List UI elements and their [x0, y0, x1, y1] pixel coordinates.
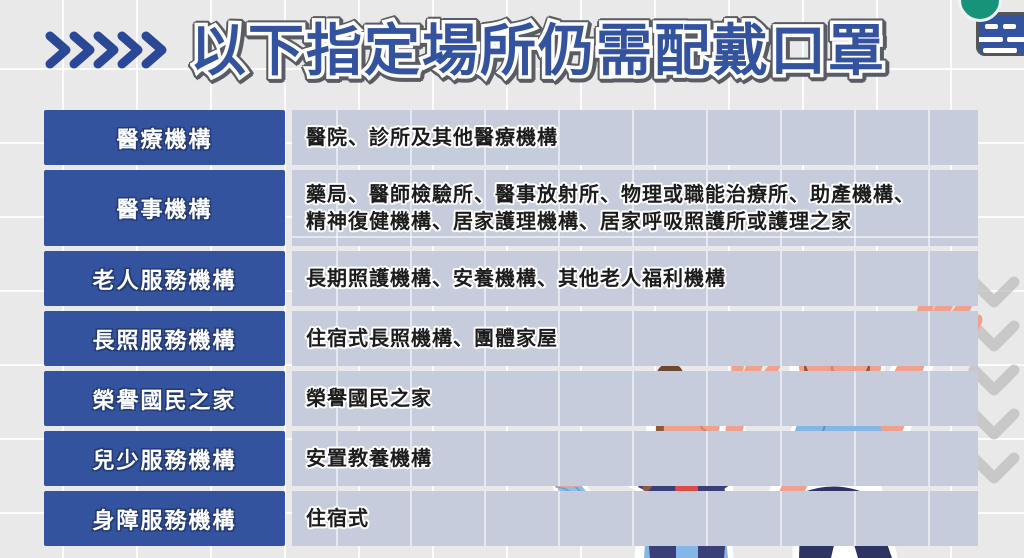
- table-row: 醫事機構 藥局、醫師檢驗所、醫事放射所、物理或職能治療所、助產機構、 精神復健機…: [44, 170, 978, 246]
- row-label-medical-affairs: 醫事機構: [44, 170, 285, 246]
- row-content-disability-service: 住宿式: [292, 491, 978, 546]
- table-row: 老人服務機構 長期照護機構、安養機構、其他老人福利機構: [44, 251, 978, 306]
- row-content-line: 藥局、醫師檢驗所、醫事放射所、物理或職能治療所、助產機構、: [306, 181, 978, 208]
- row-label-longterm-care: 長照服務機構: [44, 311, 285, 366]
- row-content-line: 醫院、診所及其他醫療機構: [306, 124, 978, 151]
- row-content-line: 住宿式: [306, 505, 978, 532]
- table-row: 榮譽國民之家 榮譽國民之家: [44, 371, 978, 426]
- header: 以下指定場所仍需配戴口罩: [0, 0, 1024, 100]
- row-label-medical-institution: 醫療機構: [44, 110, 285, 165]
- row-content-longterm-care: 住宿式長照機構、團體家屋: [292, 311, 978, 366]
- row-content-line: 榮譽國民之家: [306, 385, 978, 412]
- facility-table: 醫療機構 醫院、診所及其他醫療機構 醫事機構 藥局、醫師檢驗所、醫事放射所、物理…: [44, 110, 978, 551]
- row-content-medical-affairs: 藥局、醫師檢驗所、醫事放射所、物理或職能治療所、助產機構、 精神復健機構、居家護…: [292, 170, 978, 246]
- chevron-group-icon: [44, 28, 172, 72]
- row-content-line: 精神復健機構、居家護理機構、居家呼吸照護所或護理之家: [306, 208, 978, 235]
- table-row: 醫療機構 醫院、診所及其他醫療機構: [44, 110, 978, 165]
- row-content-medical-institution: 醫院、診所及其他醫療機構: [292, 110, 978, 165]
- row-label-children-service: 兒少服務機構: [44, 431, 285, 486]
- row-content-line: 安置教養機構: [306, 445, 978, 472]
- row-label-veterans-home: 榮譽國民之家: [44, 371, 285, 426]
- row-content-elderly-service: 長期照護機構、安養機構、其他老人福利機構: [292, 251, 978, 306]
- double-chevron-right-icon: [44, 28, 172, 72]
- row-content-veterans-home: 榮譽國民之家: [292, 371, 978, 426]
- row-content-children-service: 安置教養機構: [292, 431, 978, 486]
- row-content-line: 住宿式長照機構、團體家屋: [306, 325, 978, 352]
- row-content-line: 長期照護機構、安養機構、其他老人福利機構: [306, 265, 978, 292]
- table-row: 兒少服務機構 安置教養機構: [44, 431, 978, 486]
- page-title: 以下指定場所仍需配戴口罩: [190, 24, 886, 80]
- table-row: 身障服務機構 住宿式: [44, 491, 978, 546]
- table-row: 長照服務機構 住宿式長照機構、團體家屋: [44, 311, 978, 366]
- row-label-elderly-service: 老人服務機構: [44, 251, 285, 306]
- row-label-disability-service: 身障服務機構: [44, 491, 285, 546]
